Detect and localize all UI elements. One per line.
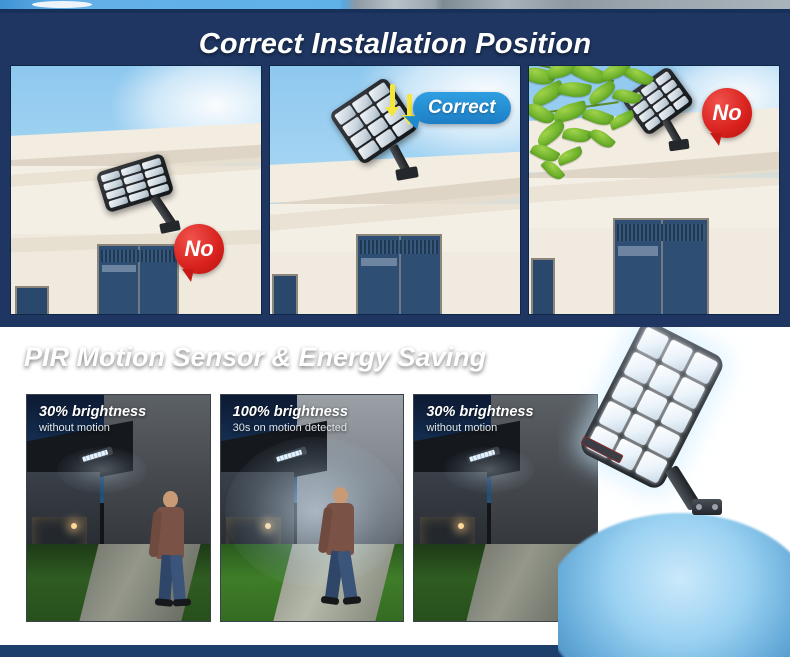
- light-pool-glow: [558, 513, 790, 657]
- glass-reflection: [618, 246, 658, 255]
- install-section-title: Correct Installation Position: [0, 28, 790, 61]
- pir-subline: 30s on motion detected: [233, 422, 348, 434]
- window-blind: [101, 250, 175, 262]
- hero-led-panel: [577, 327, 726, 492]
- pir-section-title: PIR Motion Sensor & Energy Saving: [24, 342, 486, 373]
- product-detail-page: Correct Installation Position: [0, 0, 790, 672]
- pir-card-before[interactable]: 30% brightness without motion: [26, 394, 211, 622]
- pir-caption: 30% brightness without motion: [426, 404, 533, 434]
- previous-section-sliver: [0, 0, 790, 9]
- glass-door: [97, 244, 179, 315]
- window-blind: [617, 224, 705, 241]
- side-window: [15, 286, 49, 315]
- hero-light-fixture: [577, 327, 726, 492]
- status-badge-no: No: [702, 88, 752, 138]
- pir-motion-sensor-section: PIR Motion Sensor & Energy Saving: [0, 327, 790, 657]
- product-hero-image: [558, 327, 790, 657]
- light-beam: [57, 447, 147, 493]
- side-window: [272, 274, 298, 315]
- cloud-shape: [32, 1, 92, 8]
- light-beam: [225, 437, 405, 587]
- pir-caption: 30% brightness without motion: [39, 404, 146, 434]
- glass-door: [613, 218, 709, 315]
- pir-subline: without motion: [39, 422, 146, 434]
- patio-light: [71, 523, 77, 529]
- pir-caption: 100% brightness 30s on motion detected: [233, 404, 348, 434]
- install-panel-correct-angle[interactable]: Correct: [269, 65, 521, 315]
- page-footer-whitespace: [0, 657, 790, 672]
- install-photo-row: No: [10, 65, 780, 315]
- window-blind: [360, 240, 438, 254]
- install-panel-incorrect-flat[interactable]: No: [10, 65, 262, 315]
- pir-headline: 30% brightness: [39, 404, 146, 420]
- glass-door: [356, 234, 442, 315]
- install-position-section: Correct Installation Position: [0, 13, 790, 327]
- pir-card-triggered[interactable]: 100% brightness 30s on motion detected: [220, 394, 405, 622]
- pir-headline: 30% brightness: [426, 404, 533, 420]
- light-beam: [444, 447, 534, 493]
- hero-wall-bracket: [692, 499, 722, 515]
- status-badge-no: No: [174, 224, 224, 274]
- pir-headline: 100% brightness: [233, 404, 348, 420]
- glass-reflection: [102, 265, 136, 272]
- pir-card-row: 30% brightness without motion: [26, 394, 598, 622]
- glass-reflection: [361, 258, 397, 266]
- side-window: [531, 258, 555, 315]
- status-badge-correct: Correct: [413, 92, 511, 124]
- pir-subline: without motion: [426, 422, 533, 434]
- install-panel-incorrect-shaded[interactable]: No: [528, 65, 780, 315]
